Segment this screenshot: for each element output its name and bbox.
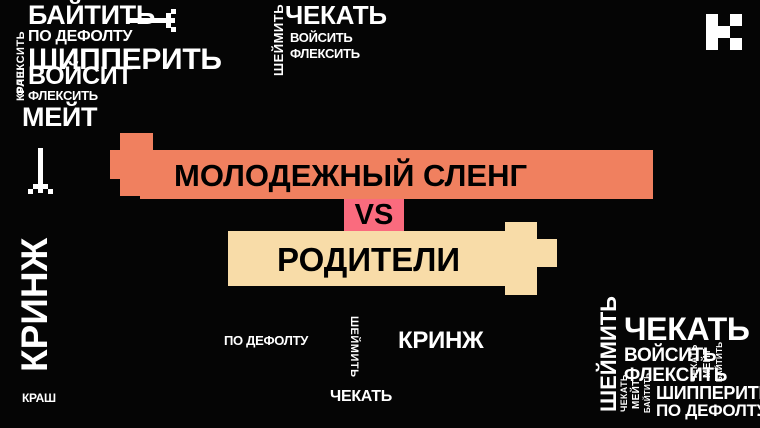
word-krinzh-vertical-large: КРИНЖ bbox=[16, 238, 53, 372]
word-sheymit-vertical-top: ШЕЙМИТЬ bbox=[272, 4, 285, 76]
word-baytit-br-mini-2: БАЙТИТЬ bbox=[644, 373, 652, 413]
word-voysit-top: ВОЙСИТ bbox=[28, 64, 132, 89]
blocky-k-logo[interactable] bbox=[702, 10, 746, 54]
arrow-down-icon bbox=[28, 148, 54, 200]
word-chekat-top: ЧЕКАТЬ bbox=[285, 2, 387, 28]
word-shipperit-br: ШИППЕРИТЬ bbox=[656, 384, 760, 402]
word-chekat-br-mini-2: ЧЕКАТЬ bbox=[620, 374, 629, 412]
word-sheymit-vertical-center: ШЕЙМИТЬ bbox=[348, 316, 359, 378]
title-line1: МОЛОДЕЖНЫЙ СЛЕНГ bbox=[174, 160, 527, 191]
vs-block: VS bbox=[344, 199, 404, 232]
word-voysit-center-top: ВОЙСИТЬ bbox=[290, 31, 352, 44]
word-chekat-bottom-center: ЧЕКАТЬ bbox=[330, 389, 392, 405]
word-fleksit-center-top: ФЛЕКСИТЬ bbox=[290, 47, 360, 60]
poster-canvas: ФЛЕКСИТЬ БАЙТИТЬ ПО ДЕФОЛТУ ШИППЕРИТЬ КР… bbox=[0, 0, 760, 428]
word-meyt-br-mini-2: МЕЙТ bbox=[632, 380, 642, 410]
word-krash-bottom-left: КРАШ bbox=[22, 392, 56, 404]
word-meyt-top: МЕЙТ bbox=[22, 104, 97, 131]
word-fleksit-small-top: ФЛЕКСИТЬ bbox=[28, 89, 98, 102]
word-po-defoltu-bottom: ПО ДЕФОЛТУ bbox=[224, 334, 308, 347]
word-baytit-br-mini-1: БАЙТИТЬ bbox=[716, 342, 724, 382]
word-krash-vertical-top: КРАШ bbox=[16, 67, 27, 101]
arrow-right-icon bbox=[126, 9, 186, 33]
word-chekat-br-mini-1: ЧЕКАТЬ bbox=[690, 344, 699, 382]
word-sheymit-vertical-br: ШЕЙМИТЬ bbox=[598, 296, 620, 412]
word-po-defoltu-br: ПО ДЕФОЛТУ bbox=[656, 402, 760, 419]
word-meyt-br-mini-1: МЕЙТ bbox=[703, 349, 713, 379]
title-line2: РОДИТЕЛИ bbox=[277, 243, 460, 276]
word-krinzh-bottom: КРИНЖ bbox=[398, 329, 483, 353]
vs-label: VS bbox=[355, 201, 394, 230]
word-chekat-br-large: ЧЕКАТЬ bbox=[624, 313, 750, 345]
cream-tab-horizontal bbox=[505, 239, 557, 267]
